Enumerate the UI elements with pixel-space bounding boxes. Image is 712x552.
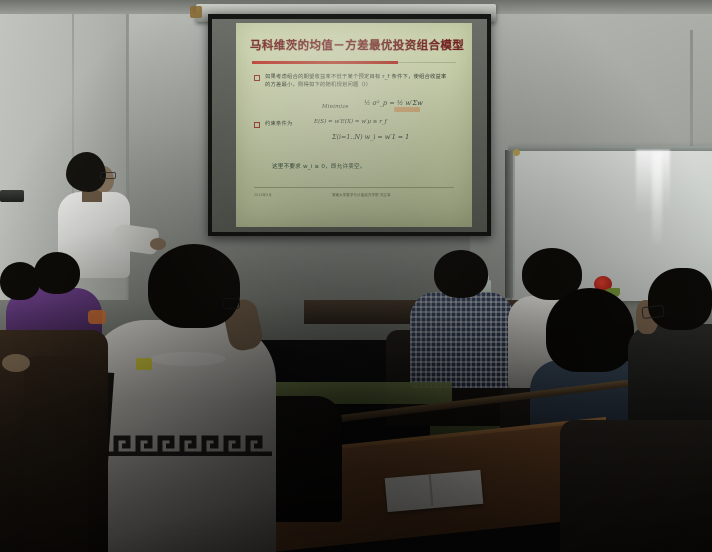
presenter-hand (150, 238, 166, 250)
slide-constraint-2: Σ(i=1..N) w_i = w′1 = 1 (332, 133, 409, 141)
slide-accent-rule-tail (398, 62, 456, 63)
screen-housing-cap (190, 6, 202, 18)
audience-far-right-torso (628, 324, 712, 434)
slide-title: 马科维茨的均值－方差最优投资组合模型 (250, 37, 460, 53)
slide-bullet-marker-2 (254, 122, 260, 128)
audience-long-hair-head (546, 288, 634, 372)
slide-footer-divider (254, 187, 454, 188)
chair-foreground-right (560, 420, 712, 552)
slide-bullet-text-2: 约束条件为 (265, 120, 293, 128)
slide-objective-label: Minimize (322, 104, 349, 110)
projection-screen: 马科维茨的均值－方差最优投资组合模型 如果考虑组合的期望收益率不低于某个预定目标… (208, 14, 491, 236)
presenter-glasses (100, 172, 116, 179)
greek-key-pattern (92, 430, 272, 456)
slide-footer-affiliation: 湖南大学数学与计量经济学院 刘立军 (332, 191, 391, 199)
foreground-person-head (148, 244, 240, 328)
audience-far-right-glasses (641, 305, 664, 319)
audience-far-right-head (648, 268, 712, 330)
slide-constraint-1: E(S) = w′E(X) = w′μ ≥ r_f (314, 119, 387, 125)
audience-checkered-torso (410, 292, 514, 388)
slide-footer-date: 2014年5月 (254, 191, 272, 199)
presentation-slide: 马科维茨的均值－方差最优投资组合模型 如果考虑组合的期望收益率不低于某个预定目标… (236, 23, 472, 227)
audience-purple-shirt-head (34, 252, 80, 294)
audience-checkered-head (434, 250, 488, 298)
hand-on-chair (2, 354, 30, 372)
whiteboard-corner-knob (513, 149, 520, 156)
whiteboard-glare-streak (652, 152, 662, 244)
slide-bullet-text-1: 如果考虑组合的期望收益率不低于某个预定目标 r_f 条件下，使组合收益率的方差最… (265, 73, 451, 89)
chair-foreground-left-inner (24, 356, 88, 552)
slide-formula-highlight (394, 107, 420, 112)
foreground-person-glasses (222, 298, 240, 309)
wall-fixture (0, 190, 24, 202)
audience-left-edge-head (0, 262, 40, 300)
lecture-hall-photo: ProSheet 马科维茨的均值－方差最优投资组合模型 如果考虑组合的期望收益率… (0, 0, 712, 552)
slide-note: 这里不要求 w_i ≥ 0，即允许卖空。 (272, 163, 366, 171)
slide-bullet-marker-1 (254, 75, 260, 81)
whiteboard-top-rail (508, 146, 712, 151)
slide-accent-rule (252, 61, 398, 64)
whiteboard-left-edge (505, 150, 513, 298)
foreground-person-collar (150, 352, 226, 366)
audience-orange-accent (88, 310, 106, 324)
slide-objective-formula: ½ σ²_p = ½ w′Σw (364, 99, 423, 107)
foreground-person-tag (136, 358, 152, 370)
